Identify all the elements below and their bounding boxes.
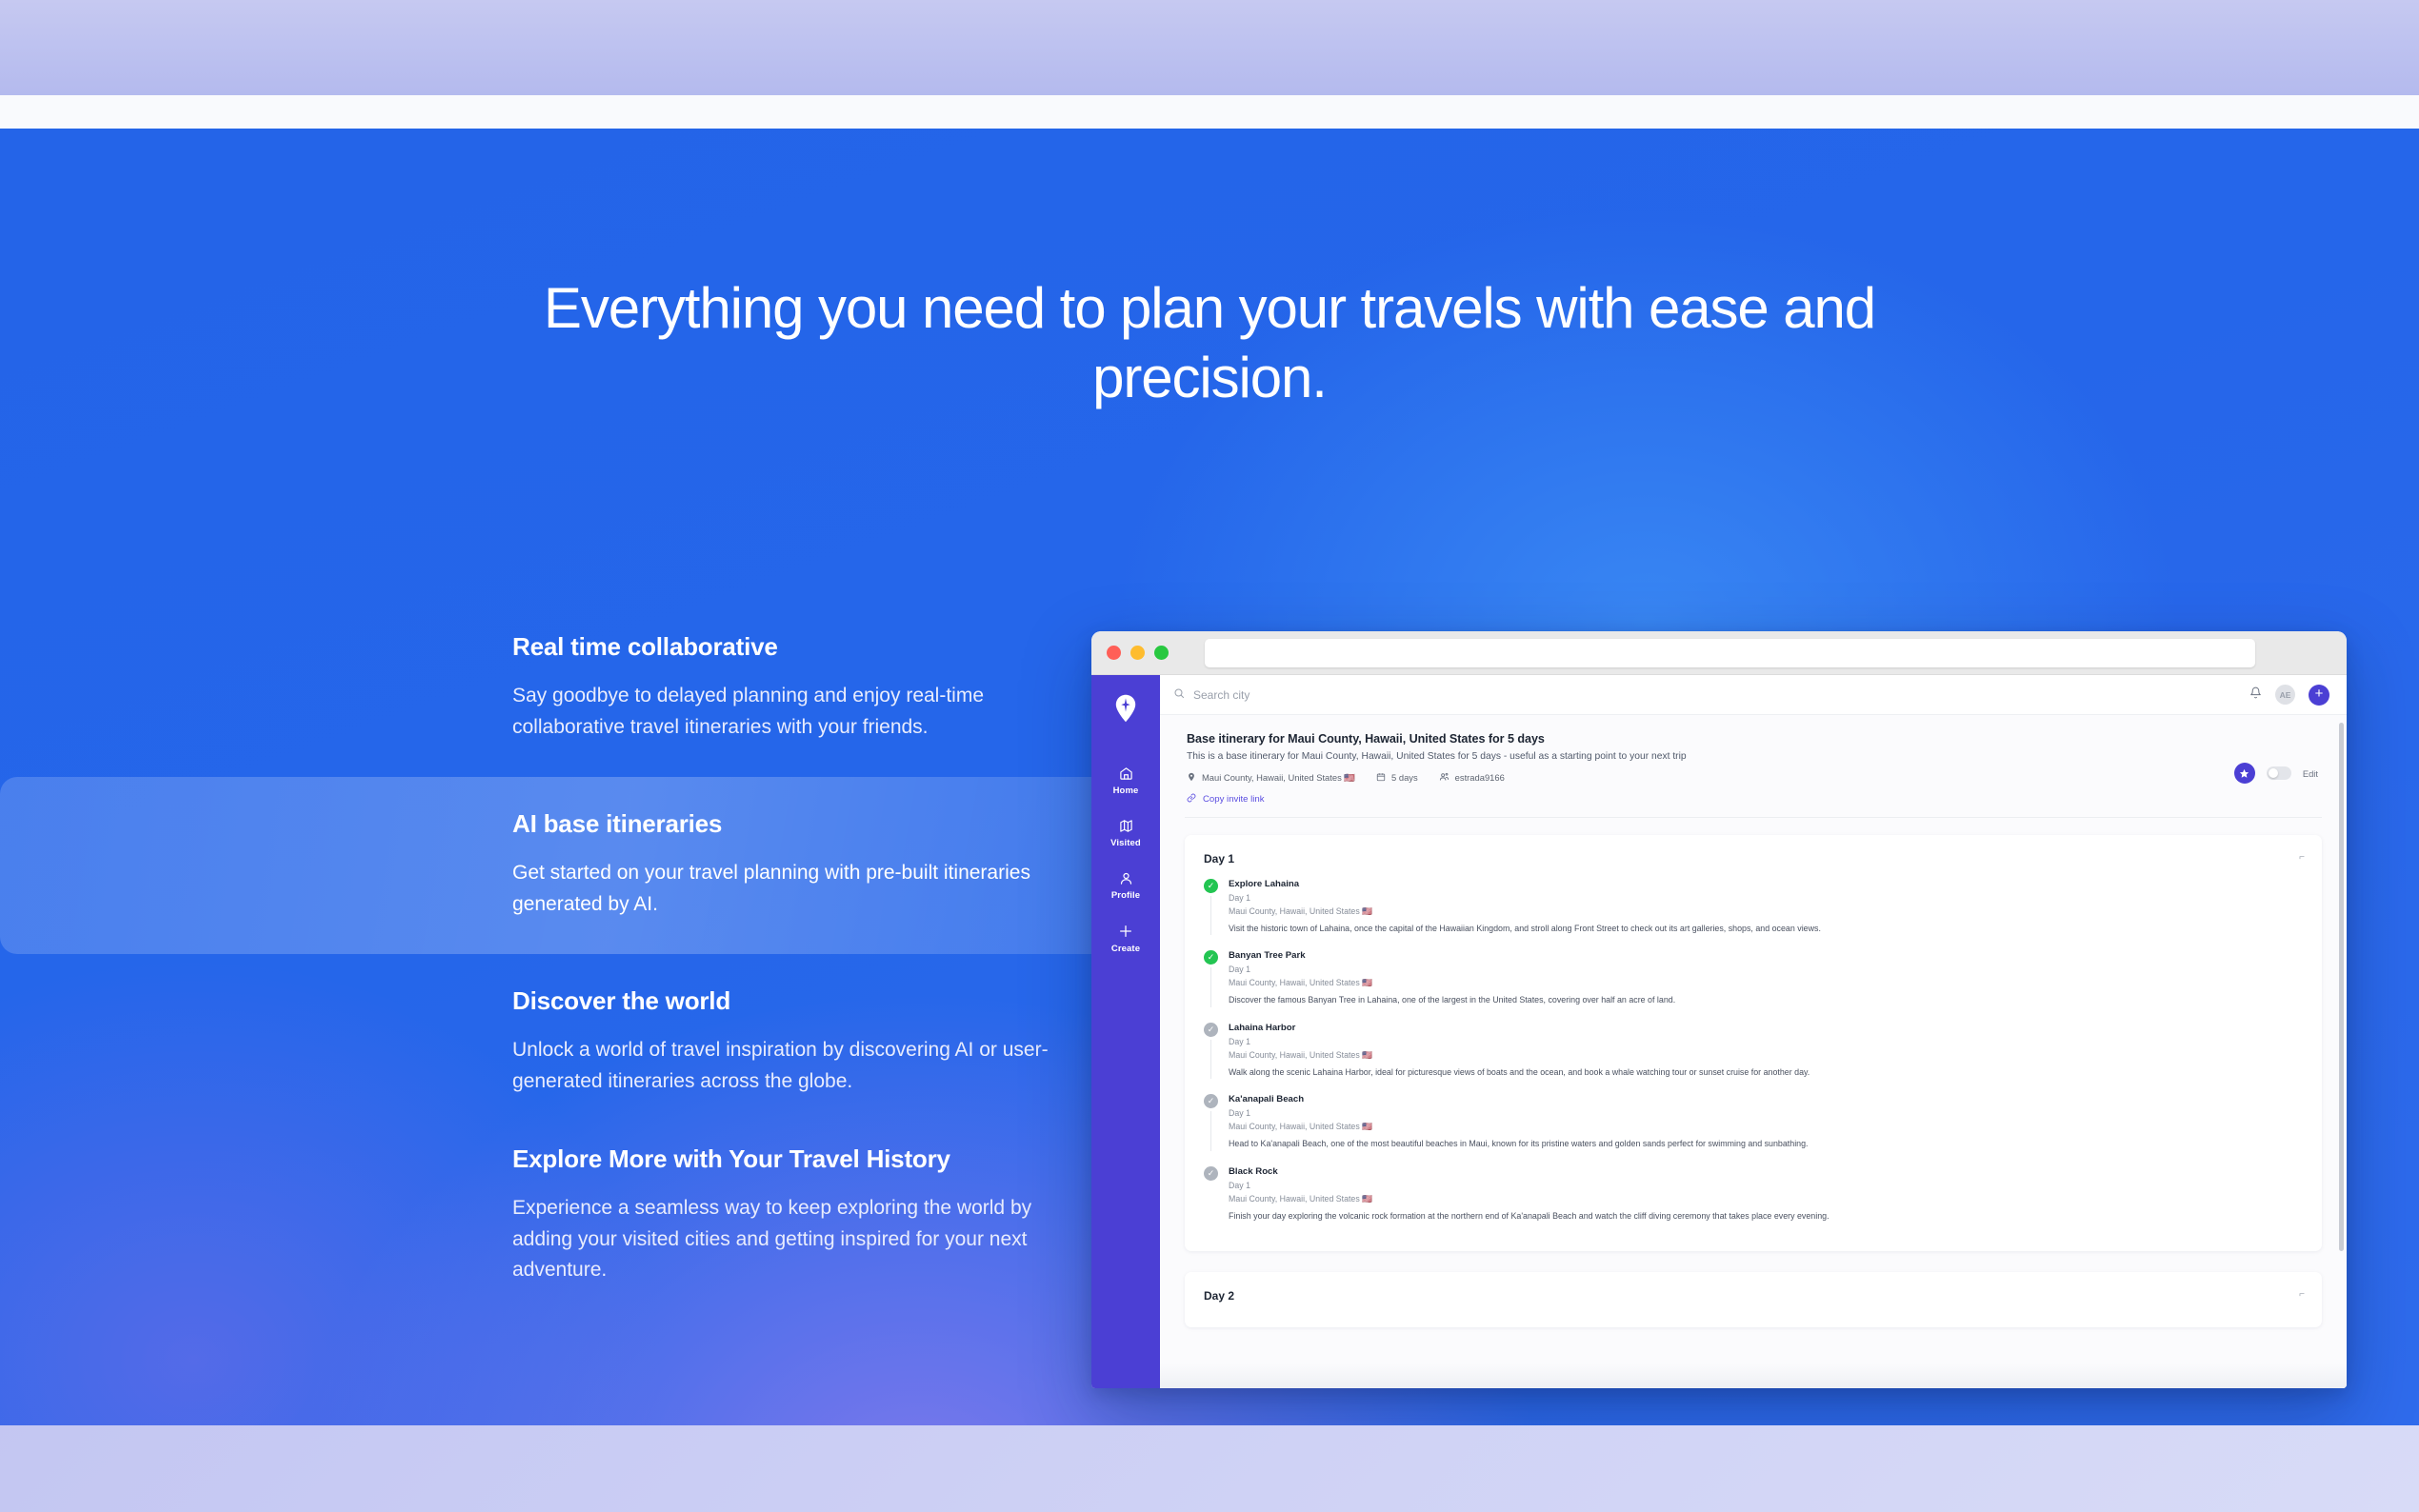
user-icon bbox=[1119, 871, 1133, 885]
page-title: Everything you need to plan your travels… bbox=[448, 273, 1971, 412]
activity-rail: ✓ bbox=[1204, 950, 1218, 1006]
content-scrollbar[interactable] bbox=[2339, 723, 2344, 1251]
activity-location: Maui County, Hawaii, United States 🇺🇸 bbox=[1229, 906, 2303, 917]
activity-name: Banyan Tree Park bbox=[1229, 950, 2303, 961]
activity-item[interactable]: ✓ Banyan Tree Park Day 1 Maui County, Ha… bbox=[1204, 950, 2303, 1022]
activity-name: Lahaina Harbor bbox=[1229, 1023, 2303, 1033]
activity-body: Ka'anapali Beach Day 1 Maui County, Hawa… bbox=[1229, 1094, 2303, 1150]
itinerary-header: Base itinerary for Maui County, Hawaii, … bbox=[1185, 728, 2322, 818]
feature-description: Say goodbye to delayed planning and enjo… bbox=[512, 681, 1070, 743]
chevron-collapse-icon[interactable]: ⌐ bbox=[2299, 1289, 2305, 1300]
calendar-icon bbox=[1376, 772, 1386, 784]
activity-rail: ✓ bbox=[1204, 1166, 1218, 1223]
add-button[interactable]: + bbox=[2309, 685, 2329, 706]
activity-description: Visit the historic town of Lahaina, once… bbox=[1229, 922, 2303, 935]
sidebar-item-label: Home bbox=[1113, 786, 1139, 796]
location-text: Maui County, Hawaii, United States 🇺🇸 bbox=[1202, 772, 1355, 784]
search-icon bbox=[1173, 686, 1185, 704]
users-icon bbox=[1439, 771, 1449, 784]
activity-location: Maui County, Hawaii, United States 🇺🇸 bbox=[1229, 978, 2303, 988]
itinerary-header-actions: Edit bbox=[2234, 763, 2318, 784]
search-placeholder: Search city bbox=[1193, 688, 1249, 702]
bottom-fade bbox=[1160, 1363, 2347, 1388]
home-icon bbox=[1119, 766, 1133, 781]
itinerary-author: estrada9166 bbox=[1439, 771, 1505, 784]
feature-item-discover-the-world[interactable]: Discover the world Unlock a world of tra… bbox=[0, 964, 1124, 1122]
sidebar-item-visited[interactable]: Visited bbox=[1091, 806, 1160, 859]
activity-status-icon[interactable]: ✓ bbox=[1204, 950, 1218, 965]
activity-rail: ✓ bbox=[1204, 1023, 1218, 1079]
activity-item[interactable]: ✓ Lahaina Harbor Day 1 Maui County, Hawa… bbox=[1204, 1023, 2303, 1094]
activity-rail: ✓ bbox=[1204, 1094, 1218, 1150]
timeline-connector bbox=[1210, 1040, 1211, 1079]
activity-status-icon[interactable]: ✓ bbox=[1204, 1094, 1218, 1108]
activity-body: Explore Lahaina Day 1 Maui County, Hawai… bbox=[1229, 879, 2303, 935]
activity-name: Ka'anapali Beach bbox=[1229, 1094, 2303, 1104]
activity-description: Walk along the scenic Lahaina Harbor, id… bbox=[1229, 1065, 2303, 1079]
timeline-connector bbox=[1210, 1111, 1211, 1150]
copy-invite-link-button[interactable]: Copy invite link bbox=[1187, 793, 2320, 806]
sidebar-item-home[interactable]: Home bbox=[1091, 754, 1160, 806]
sidebar-item-create[interactable]: Create bbox=[1091, 911, 1160, 965]
plus-icon bbox=[1118, 924, 1133, 939]
feature-description: Experience a seamless way to keep explor… bbox=[512, 1193, 1070, 1286]
sidebar-item-label: Visited bbox=[1110, 838, 1141, 848]
activity-day: Day 1 bbox=[1229, 1181, 2303, 1190]
activity-name: Explore Lahaina bbox=[1229, 879, 2303, 889]
activity-body: Banyan Tree Park Day 1 Maui County, Hawa… bbox=[1229, 950, 2303, 1006]
activity-description: Head to Ka'anapali Beach, one of the mos… bbox=[1229, 1137, 2303, 1150]
browser-chrome bbox=[1091, 631, 2347, 675]
avatar[interactable]: AE bbox=[2275, 685, 2295, 705]
activity-day: Day 1 bbox=[1229, 965, 2303, 974]
duration-text: 5 days bbox=[1391, 772, 1418, 783]
app-window-mockup: Home Visited Profile bbox=[1091, 631, 2347, 1388]
feature-item-real-time-collaborative[interactable]: Real time collaborative Say goodbye to d… bbox=[0, 609, 1124, 767]
sidebar-item-profile[interactable]: Profile bbox=[1091, 859, 1160, 911]
edit-toggle[interactable] bbox=[2267, 766, 2291, 780]
hero-section: Everything you need to plan your travels… bbox=[0, 129, 2419, 1425]
activity-day: Day 1 bbox=[1229, 1037, 2303, 1046]
feature-description: Get started on your travel planning with… bbox=[512, 858, 1070, 920]
location-pin-icon bbox=[1187, 772, 1196, 784]
day-label: Day 2 bbox=[1204, 1289, 2303, 1303]
app-main: Search city AE + Base itinerary for bbox=[1160, 675, 2347, 1388]
edit-label: Edit bbox=[2303, 768, 2318, 779]
itinerary-duration: 5 days bbox=[1376, 772, 1418, 784]
app-sidebar: Home Visited Profile bbox=[1091, 675, 1160, 1388]
activity-description: Discover the famous Banyan Tree in Lahai… bbox=[1229, 993, 2303, 1006]
activity-item[interactable]: ✓ Explore Lahaina Day 1 Maui County, Haw… bbox=[1204, 879, 2303, 950]
app-logo-icon[interactable] bbox=[1115, 694, 1136, 727]
bell-icon[interactable] bbox=[2249, 686, 2262, 704]
maximize-window-icon[interactable] bbox=[1154, 646, 1169, 660]
activity-description: Finish your day exploring the volcanic r… bbox=[1229, 1209, 2303, 1223]
author-text: estrada9166 bbox=[1455, 772, 1505, 783]
feature-title: Discover the world bbox=[512, 986, 1124, 1016]
itinerary-meta: Maui County, Hawaii, United States 🇺🇸 5 … bbox=[1187, 771, 2320, 784]
itinerary-subtitle: This is a base itinerary for Maui County… bbox=[1187, 751, 2320, 762]
sidebar-item-label: Create bbox=[1111, 944, 1140, 954]
activity-status-icon[interactable]: ✓ bbox=[1204, 1166, 1218, 1181]
close-window-icon[interactable] bbox=[1107, 646, 1121, 660]
landing-page: Everything you need to plan your travels… bbox=[0, 0, 2419, 1512]
map-icon bbox=[1119, 819, 1133, 833]
search-input[interactable]: Search city bbox=[1173, 686, 1249, 704]
chevron-collapse-icon[interactable]: ⌐ bbox=[2299, 852, 2305, 863]
activity-day: Day 1 bbox=[1229, 893, 2303, 903]
link-icon bbox=[1187, 793, 1196, 806]
address-bar[interactable] bbox=[1205, 639, 2255, 667]
activity-location: Maui County, Hawaii, United States 🇺🇸 bbox=[1229, 1194, 2303, 1204]
activity-body: Lahaina Harbor Day 1 Maui County, Hawaii… bbox=[1229, 1023, 2303, 1079]
timeline-connector bbox=[1210, 896, 1211, 935]
day-card-1: ⌐ Day 1 ✓ Explore Lahaina Day 1 bbox=[1185, 835, 2322, 1251]
activity-status-icon[interactable]: ✓ bbox=[1204, 1023, 1218, 1037]
traffic-lights bbox=[1107, 646, 1169, 660]
activity-name: Black Rock bbox=[1229, 1166, 2303, 1177]
feature-list: Real time collaborative Say goodbye to d… bbox=[0, 609, 1124, 1311]
feature-title: Real time collaborative bbox=[512, 632, 1124, 662]
itinerary-title: Base itinerary for Maui County, Hawaii, … bbox=[1187, 732, 2320, 746]
top-white-strip bbox=[0, 95, 2419, 129]
activity-item[interactable]: ✓ Ka'anapali Beach Day 1 Maui County, Ha… bbox=[1204, 1094, 2303, 1165]
top-gradient-band bbox=[0, 0, 2419, 95]
feature-item-travel-history[interactable]: Explore More with Your Travel History Ex… bbox=[0, 1122, 1124, 1311]
copy-invite-link-label: Copy invite link bbox=[1203, 794, 1265, 805]
timeline-connector bbox=[1210, 967, 1211, 1006]
minimize-window-icon[interactable] bbox=[1130, 646, 1145, 660]
activity-item[interactable]: ✓ Black Rock Day 1 Maui County, Hawaii, … bbox=[1204, 1166, 2303, 1238]
day-label: Day 1 bbox=[1204, 852, 2303, 865]
day-card-2: ⌐ Day 2 bbox=[1185, 1272, 2322, 1327]
favorite-button[interactable] bbox=[2234, 763, 2255, 784]
activity-location: Maui County, Hawaii, United States 🇺🇸 bbox=[1229, 1050, 2303, 1061]
itinerary-location: Maui County, Hawaii, United States 🇺🇸 bbox=[1187, 772, 1355, 784]
app-topbar: Search city AE + bbox=[1160, 675, 2347, 715]
sidebar-item-label: Profile bbox=[1111, 890, 1140, 901]
feature-description: Unlock a world of travel inspiration by … bbox=[512, 1035, 1070, 1097]
activity-day: Day 1 bbox=[1229, 1108, 2303, 1118]
activity-status-icon[interactable]: ✓ bbox=[1204, 879, 1218, 893]
topbar-actions: AE + bbox=[2249, 685, 2329, 706]
feature-item-ai-base-itineraries[interactable]: AI base itineraries Get started on your … bbox=[0, 777, 1124, 954]
activity-location: Maui County, Hawaii, United States 🇺🇸 bbox=[1229, 1122, 2303, 1132]
feature-title: Explore More with Your Travel History bbox=[512, 1144, 1124, 1174]
activity-rail: ✓ bbox=[1204, 879, 1218, 935]
app-body: Home Visited Profile bbox=[1091, 675, 2347, 1388]
itinerary-content: Base itinerary for Maui County, Hawaii, … bbox=[1160, 715, 2347, 1388]
activity-body: Black Rock Day 1 Maui County, Hawaii, Un… bbox=[1229, 1166, 2303, 1223]
feature-title: AI base itineraries bbox=[512, 809, 1124, 839]
